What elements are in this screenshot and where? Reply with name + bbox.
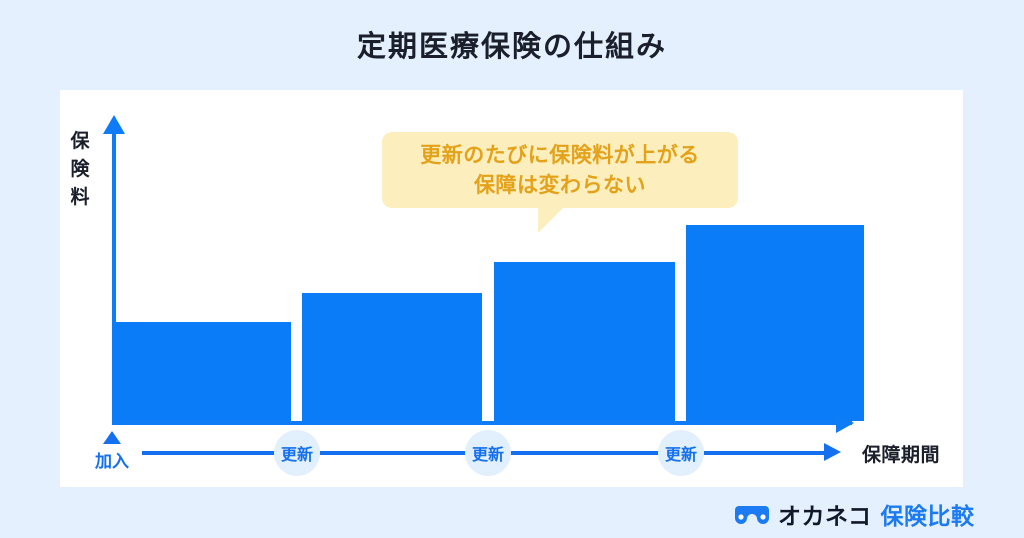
callout-text: 更新のたびに保険料が上がる 保障は変わらない	[382, 141, 738, 201]
timeline-entry-label: 加入	[88, 447, 136, 472]
brand-subtitle: 保険比較	[881, 497, 975, 531]
callout-tail-icon	[538, 207, 564, 233]
timeline-node-3[interactable]: 更新	[658, 430, 704, 476]
bar-series	[0, 0, 1024, 421]
timeline-node-2[interactable]: 更新	[465, 430, 511, 476]
callout-line-1: 更新のたびに保険料が上がる	[382, 141, 738, 171]
glasses-icon	[735, 504, 769, 524]
timeline-node-1-label: 更新	[281, 441, 313, 465]
callout-box: 更新のたびに保険料が上がる 保障は変わらない	[382, 132, 738, 208]
infographic-canvas: 定期医療保険の仕組み 保 険 料 更新のたびに保険料が上がる 保障は変わらない …	[0, 0, 1024, 538]
timeline-arrow-icon	[824, 443, 841, 461]
bar-1	[112, 322, 291, 421]
x-axis-line	[112, 421, 852, 425]
timeline-node-1[interactable]: 更新	[274, 430, 320, 476]
bar-4	[686, 225, 864, 421]
callout-line-2: 保障は変わらない	[382, 171, 738, 201]
bar-2	[302, 293, 482, 421]
brand-logo[interactable]: オカネコ 保険比較	[735, 497, 975, 531]
timeline-node-2-label: 更新	[472, 441, 504, 465]
timeline-node-3-label: 更新	[665, 441, 697, 465]
bar-3	[494, 262, 675, 421]
brand-name: オカネコ	[778, 497, 872, 531]
x-axis-arrow-icon	[836, 413, 854, 433]
entry-marker-triangle-icon	[103, 431, 121, 444]
x-axis-label: 保障期間	[862, 440, 940, 467]
